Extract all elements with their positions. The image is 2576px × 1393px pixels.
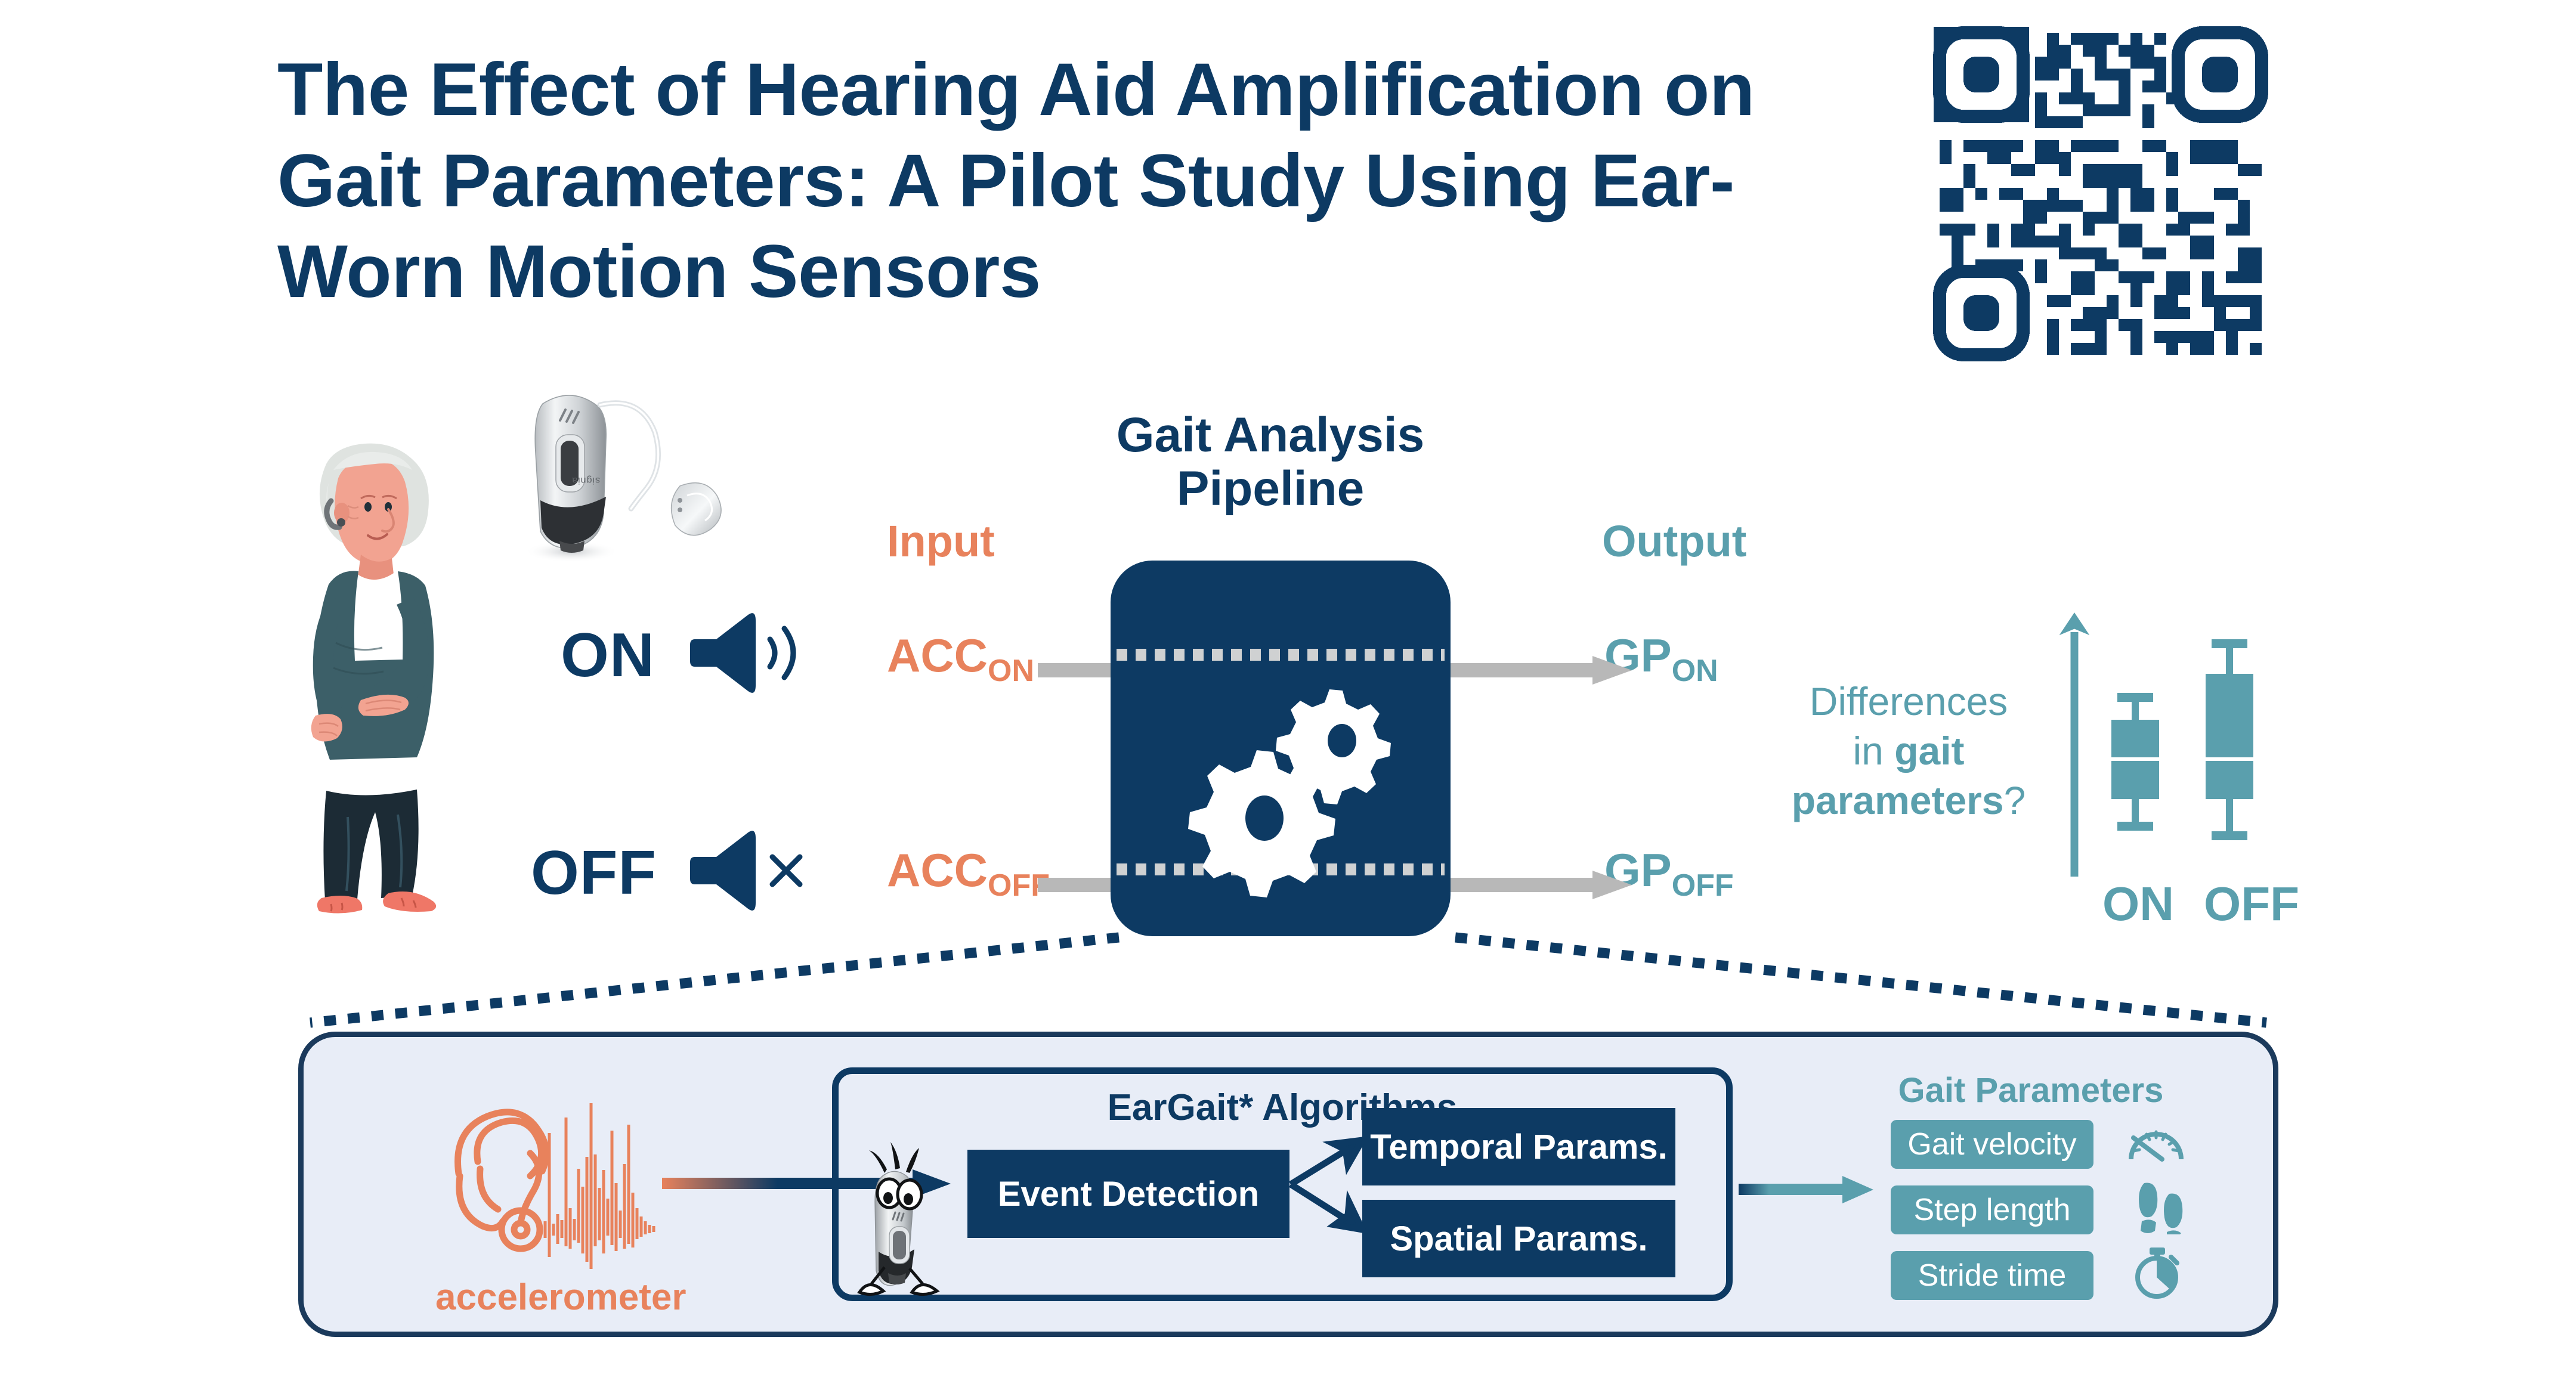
event-to-params-branch-arrows: [1288, 1115, 1372, 1252]
gait-parameter-chip-stride-time: Stride time: [1891, 1251, 2093, 1300]
hearing-aid-mascot-icon: [850, 1136, 951, 1297]
signal-acc-on: ACCON: [887, 632, 1034, 679]
temporal-params-box: Temporal Params.: [1362, 1108, 1675, 1185]
qr-code[interactable]: [1928, 21, 2274, 367]
acc-on-sub: ON: [988, 654, 1034, 688]
gait-analysis-pipeline-box: [1111, 561, 1451, 936]
hearing-aid-device-image: signia: [501, 373, 734, 569]
hearing-aid-waveform-icon: [438, 1097, 689, 1270]
stopwatch-icon: [2129, 1244, 2189, 1299]
svg-text:signia: signia: [571, 475, 600, 485]
output-caption: Output: [1602, 516, 1746, 567]
page-title: The Effect of Hearing Aid Amplification …: [277, 45, 1888, 318]
pipeline-title-line1: Gait Analysis: [1050, 408, 1491, 462]
question-line1: Differences: [1754, 677, 2064, 726]
question-line3-suffix: ?: [2004, 778, 2026, 822]
acc-on-text: ACC: [887, 629, 988, 682]
spatial-params-box: Spatial Params.: [1362, 1200, 1675, 1277]
pipeline-title: Gait Analysis Pipeline: [1050, 408, 1491, 516]
differences-question: Differences in gait parameters?: [1754, 677, 2064, 825]
pipeline-title-line2: Pipeline: [1050, 462, 1491, 516]
gait-parameter-chip-step-length: Step length: [1891, 1185, 2093, 1234]
params-to-gait-parameters-arrow: [1739, 1169, 1876, 1211]
signal-acc-off: ACCOFF: [887, 847, 1050, 893]
gait-parameters-title: Gait Parameters: [1870, 1070, 2192, 1110]
gait-parameter-chip-velocity: Gait velocity: [1891, 1120, 2093, 1169]
footprints-icon: [2132, 1180, 2192, 1234]
acc-off-text: ACC: [887, 844, 988, 896]
event-detection-box: Event Detection: [967, 1150, 1289, 1238]
question-line2-prefix: in: [1853, 729, 1894, 773]
condition-on-label: ON: [561, 620, 655, 691]
gears-icon: [1167, 668, 1406, 906]
question-line3-bold: parameters: [1792, 778, 2004, 822]
speedometer-icon: [2126, 1116, 2186, 1171]
question-line2-bold: gait: [1894, 729, 1964, 773]
gp-on-sub: ON: [1672, 654, 1718, 688]
speaker-on-icon: [689, 608, 826, 698]
elderly-walker-illustration: [271, 405, 474, 954]
accelerometer-label: accelerometer: [435, 1276, 686, 1318]
input-caption: Input: [887, 516, 995, 567]
